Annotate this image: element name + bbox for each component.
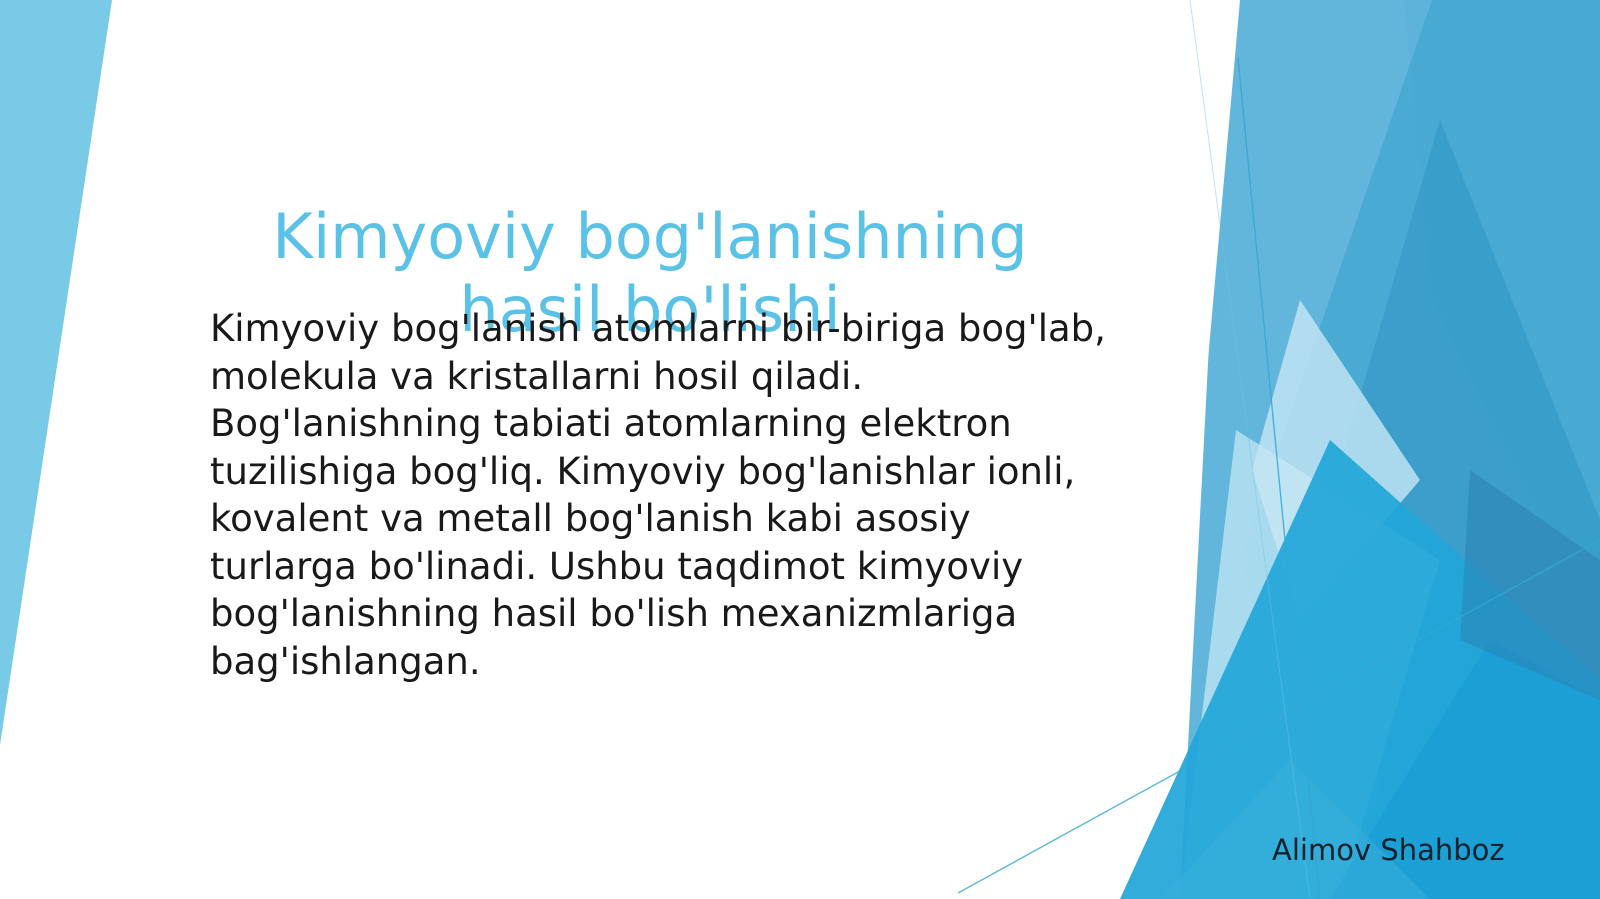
slide-content: Kimyoviy bog'lanishning hasil bo'lishi K… — [0, 0, 1600, 899]
slide-footer-author: Alimov Shahboz — [1272, 833, 1505, 867]
presentation-slide: Kimyoviy bog'lanishning hasil bo'lishi K… — [0, 0, 1600, 899]
slide-body-text: Kimyoviy bog'lanish atomlarni bir-biriga… — [210, 305, 1120, 685]
